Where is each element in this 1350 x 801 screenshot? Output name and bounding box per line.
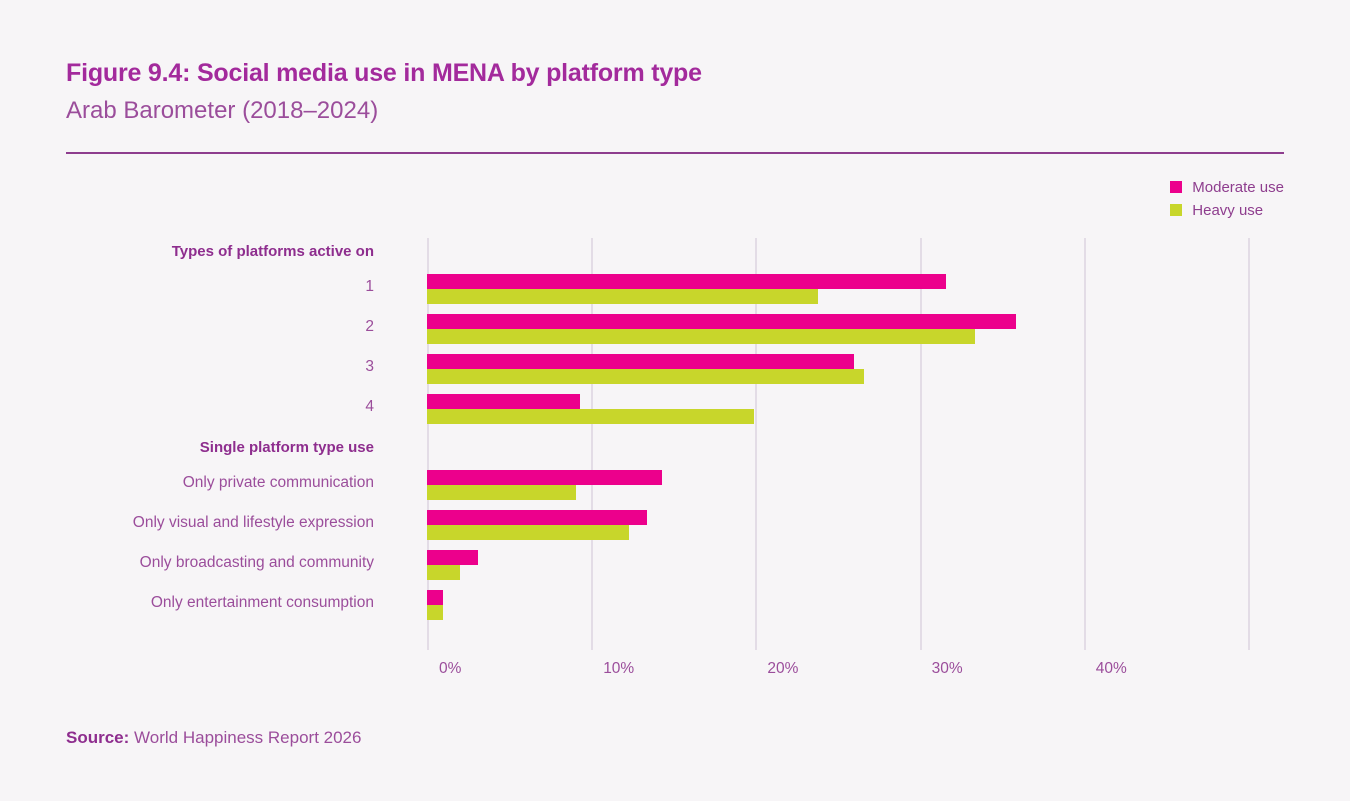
header-divider [66,152,1284,154]
legend-item[interactable]: Moderate use [1170,178,1284,196]
x-tick-label: 20% [767,660,798,678]
bar-row [427,354,1248,384]
plot-area [427,238,1248,650]
bar-heavy-use[interactable] [427,409,754,424]
heavy-swatch [1170,204,1182,216]
category-label: 1 [0,278,401,296]
x-axis-labels: 0%10%20%30%40% [0,660,1350,684]
category-label: Only entertainment consumption [0,594,401,612]
bar-heavy-use[interactable] [427,485,576,500]
category-label: 3 [0,358,401,376]
chart-title: Figure 9.4: Social media use in MENA by … [66,58,1284,88]
category-label: Only broadcasting and community [0,554,401,572]
bar-moderate-use[interactable] [427,274,946,289]
bar-moderate-use[interactable] [427,550,478,565]
bar-moderate-use[interactable] [427,510,647,525]
legend-label: Moderate use [1192,179,1284,196]
gridline [1248,238,1250,650]
x-tick-label: 10% [603,660,634,678]
bar-heavy-use[interactable] [427,329,975,344]
chart-header: Figure 9.4: Social media use in MENA by … [66,58,1284,126]
source-text: World Happiness Report 2026 [134,728,361,747]
bar-row [427,550,1248,580]
group-header-label: Types of platforms active on [0,243,401,260]
bar-moderate-use[interactable] [427,590,443,605]
group-header-label: Single platform type use [0,439,401,456]
bar-moderate-use[interactable] [427,314,1016,329]
category-label: Only private communication [0,474,401,492]
bar-heavy-use[interactable] [427,369,864,384]
bar-heavy-use[interactable] [427,525,629,540]
moderate-swatch [1170,181,1182,193]
bar-row [427,510,1248,540]
bar-heavy-use[interactable] [427,605,443,620]
bar-row [427,314,1248,344]
bar-row [427,590,1248,620]
legend-label: Heavy use [1192,202,1263,219]
y-axis-labels: Types of platforms active on1234Single p… [0,238,401,650]
chart-subtitle: Arab Barometer (2018–2024) [66,96,1284,126]
legend-item[interactable]: Heavy use [1170,201,1263,219]
category-label: 4 [0,398,401,416]
bar-heavy-use[interactable] [427,565,460,580]
bar-moderate-use[interactable] [427,354,854,369]
bar-row [427,394,1248,424]
bar-moderate-use[interactable] [427,470,662,485]
source-note: Source: World Happiness Report 2026 [66,728,361,748]
category-label: 2 [0,318,401,336]
x-tick-label: 40% [1096,660,1127,678]
chart-legend: Moderate useHeavy use [1170,178,1284,219]
x-tick-label: 30% [932,660,963,678]
x-tick-label: 0% [439,660,461,678]
bar-rows [427,238,1248,650]
bar-row [427,470,1248,500]
bar-row [427,274,1248,304]
bar-heavy-use[interactable] [427,289,818,304]
category-label: Only visual and lifestyle expression [0,514,401,532]
source-label: Source: [66,728,129,747]
bar-moderate-use[interactable] [427,394,580,409]
